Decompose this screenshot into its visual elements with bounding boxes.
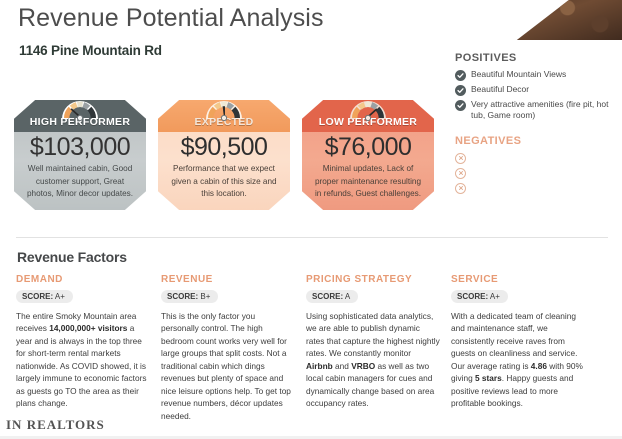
performance-badges: HIGH PERFORMER $103,000 Well maintained …: [14, 92, 434, 212]
positives-list: Beautiful Mountain Views Beautiful Decor…: [455, 69, 620, 122]
negatives-list: [455, 152, 620, 194]
badge-amount: $90,500: [158, 134, 290, 160]
close-icon: [455, 183, 466, 194]
list-item: [455, 152, 620, 164]
section-divider: [16, 237, 608, 238]
score-label: SCORE:: [167, 292, 198, 301]
badge-description: Minimal updates, Lack of proper maintena…: [302, 163, 434, 200]
badge-description: Well maintained cabin, Good customer sup…: [14, 163, 146, 200]
factor-pricing-strategy: PRICING STRATEGY SCORE: A Using sophisti…: [306, 274, 451, 422]
factor-body: Using sophisticated data analytics, we a…: [306, 310, 440, 410]
positive-text: Beautiful Decor: [471, 84, 529, 95]
factor-body: With a dedicated team of cleaning and ma…: [451, 310, 585, 410]
factor-demand: DEMAND SCORE: A+ The entire Smoky Mounta…: [16, 274, 161, 422]
check-icon: [455, 70, 466, 81]
badge-amount: $103,000: [14, 134, 146, 160]
page-title: Revenue Potential Analysis: [18, 4, 324, 33]
list-item: Very attractive amenities (fire pit, hot…: [455, 99, 620, 122]
gauge-icon: [58, 95, 102, 126]
score-value: A+: [55, 292, 65, 301]
negatives-title: NEGATIVES: [455, 135, 620, 147]
score-value: A: [345, 292, 350, 301]
close-icon: [455, 153, 466, 164]
positive-text: Beautiful Mountain Views: [471, 69, 566, 80]
score-label: SCORE:: [22, 292, 53, 301]
score-label: SCORE:: [312, 292, 343, 301]
revenue-analysis-page: Revenue Potential Analysis 1146 Pine Mou…: [0, 0, 622, 439]
badge-low-performer[interactable]: LOW PERFORMER $76,000 Minimal updates, L…: [302, 100, 434, 210]
cabin-photo-sliver: [496, 0, 622, 40]
score-label: SCORE:: [457, 292, 488, 301]
property-address: 1146 Pine Mountain Rd: [19, 43, 162, 58]
badge-amount: $76,000: [302, 134, 434, 160]
factor-title: REVENUE: [161, 274, 295, 285]
score-value: B+: [200, 292, 210, 301]
factor-body: The entire Smoky Mountain area receives …: [16, 310, 150, 410]
score-badge: SCORE: B+: [161, 290, 218, 303]
factor-revenue: REVENUE SCORE: B+ This is the only facto…: [161, 274, 306, 422]
factor-title: SERVICE: [451, 274, 585, 285]
gauge-icon: [346, 95, 390, 126]
close-icon: [455, 168, 466, 179]
badge-high-performer[interactable]: HIGH PERFORMER $103,000 Well maintained …: [14, 100, 146, 210]
score-badge: SCORE: A+: [451, 290, 508, 303]
list-item: [455, 167, 620, 179]
revenue-factor-columns: DEMAND SCORE: A+ The entire Smoky Mounta…: [16, 274, 612, 422]
score-badge: SCORE: A: [306, 290, 358, 303]
list-item: Beautiful Decor: [455, 84, 620, 96]
factor-body: This is the only factor you personally c…: [161, 310, 295, 422]
badge-description: Performance that we expect given a cabin…: [158, 163, 290, 200]
positives-negatives-panel: POSITIVES Beautiful Mountain Views Beaut…: [455, 52, 620, 197]
list-item: Beautiful Mountain Views: [455, 69, 620, 81]
factor-title: DEMAND: [16, 274, 150, 285]
positive-text: Very attractive amenities (fire pit, hot…: [471, 99, 620, 122]
positives-title: POSITIVES: [455, 52, 620, 64]
score-badge: SCORE: A+: [16, 290, 73, 303]
factor-service: SERVICE SCORE: A+ With a dedicated team …: [451, 274, 596, 422]
section-title: Revenue Factors: [17, 249, 127, 265]
badge-expected[interactable]: EXPECTED $90,500 Performance that we exp…: [158, 100, 290, 210]
check-icon: [455, 85, 466, 96]
list-item: [455, 182, 620, 194]
gauge-icon: [202, 95, 246, 126]
score-value: A+: [490, 292, 500, 301]
check-icon: [455, 100, 466, 111]
factor-title: PRICING STRATEGY: [306, 274, 440, 285]
